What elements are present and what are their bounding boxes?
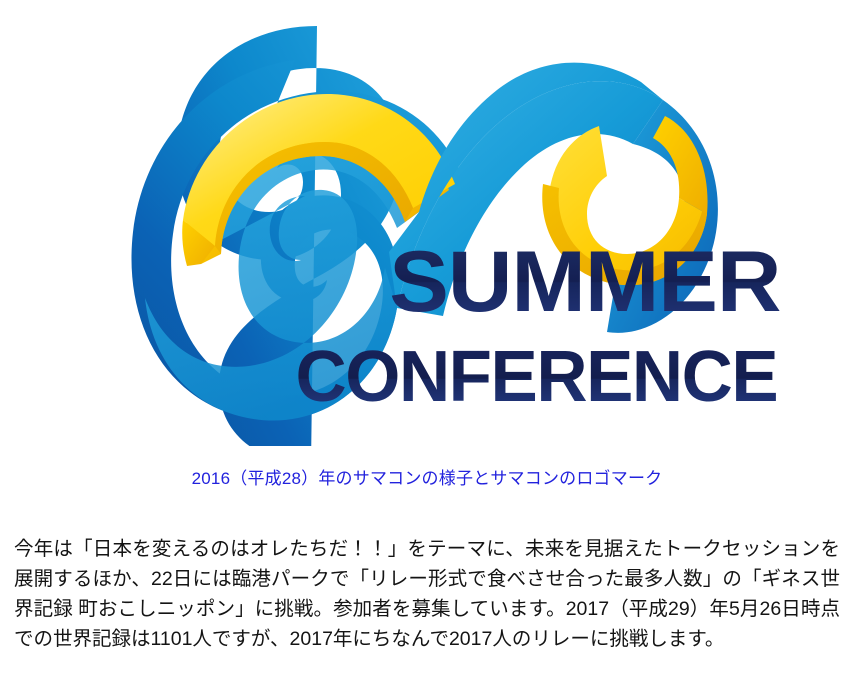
logo-svg: SUMMER CONFERENCE [67,16,787,446]
summer-conference-logo: SUMMER CONFERENCE [67,16,787,446]
wordmark-summer: SUMMER [389,234,780,330]
article-paragraph: 今年は「日本を変えるのはオレたちだ！！」をテーマに、未来を見据えたトークセッショ… [14,534,840,654]
logo-figure: SUMMER CONFERENCE [0,0,854,462]
article-body: 今年は「日本を変えるのはオレたちだ！！」をテーマに、未来を見据えたトークセッショ… [0,490,854,654]
article-page: SUMMER CONFERENCE 2016（平成28）年のサマコンの様子とサマ… [0,0,854,700]
wordmark-conference: CONFERENCE [296,337,778,418]
figure-caption: 2016（平成28）年のサマコンの様子とサマコンのロゴマーク [0,462,854,490]
